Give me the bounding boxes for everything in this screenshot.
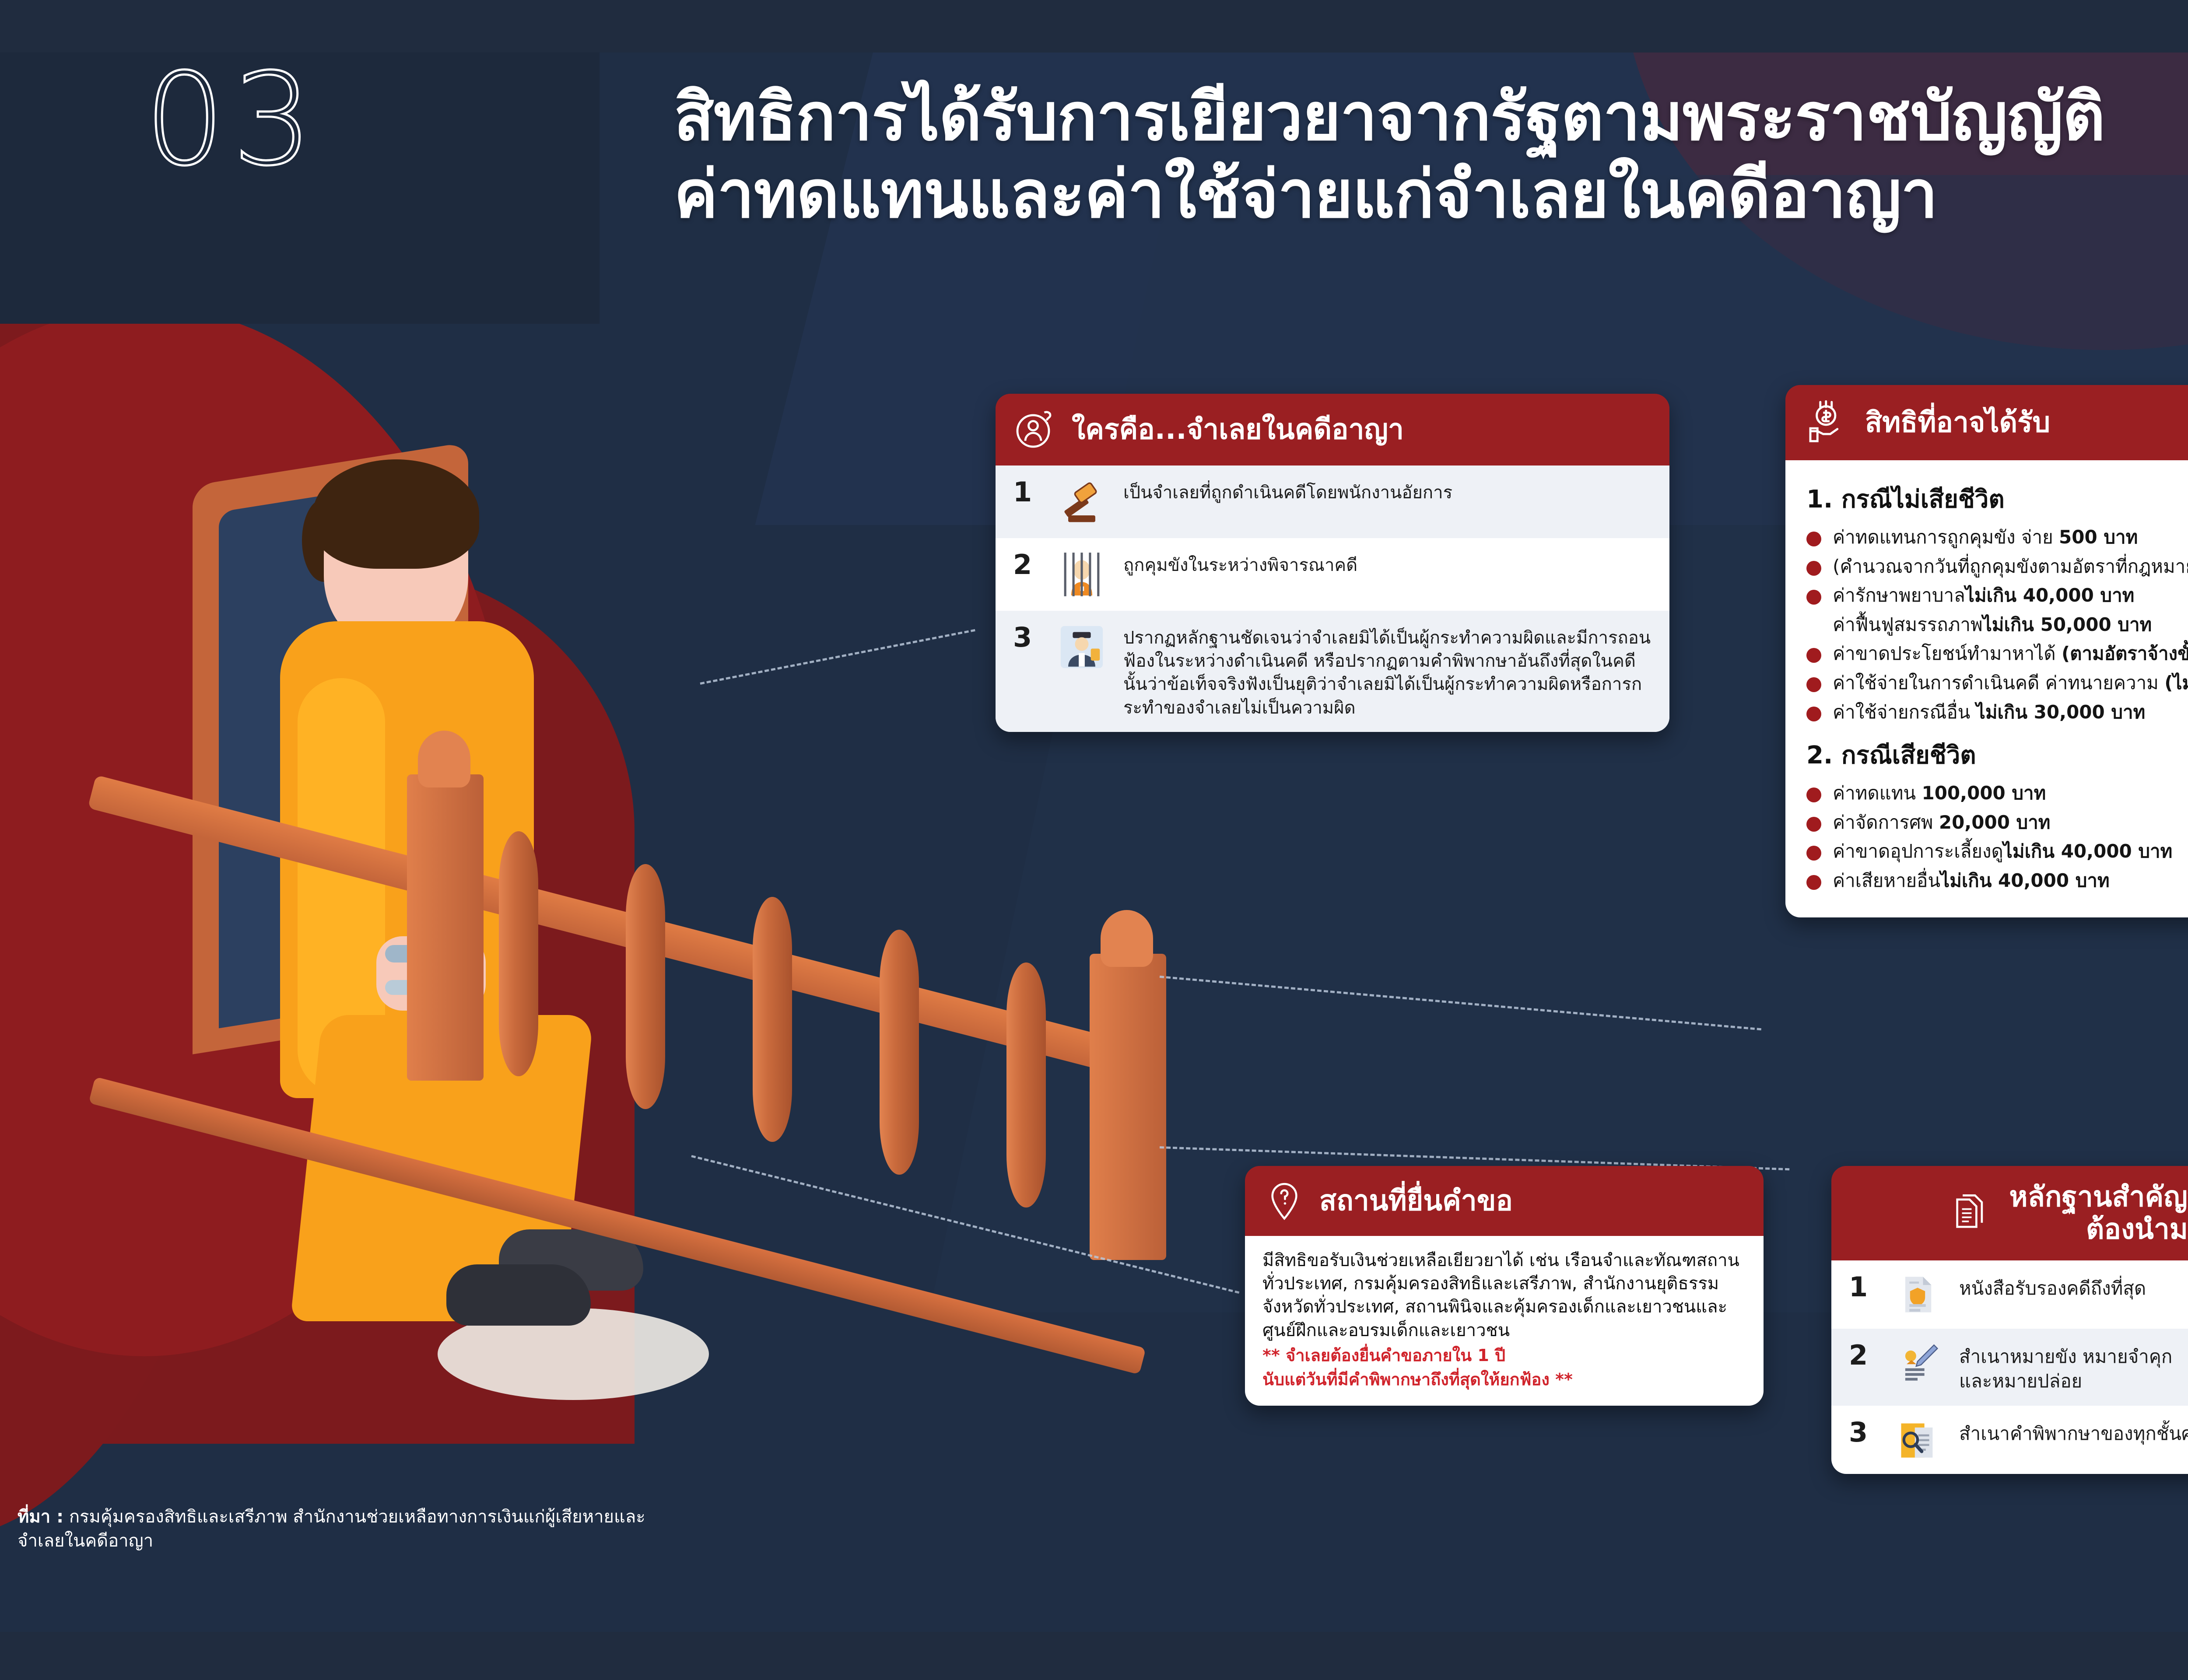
item-text: เป็นจำเลยที่ถูกดำเนินคดีโดยพนักงานอัยการ [1123, 478, 1452, 504]
bullet-item: ค่าใช้จ่ายในการดำเนินคดี ค่าทนายความ (ไม… [1806, 671, 2188, 695]
bullet-dot [1806, 532, 1821, 546]
bullet-bold: ไม่เกิน 40,000 บาท [1940, 870, 2110, 891]
railing-post-cap-left [418, 731, 470, 787]
card-evidence-body: 1 หนังสือรับรองคดีถึงที่สุด [1831, 1260, 2188, 1474]
bullet-bold: ไม่เกิน 50,000 บาท [1983, 614, 2152, 635]
bullet-item: ค่าเสียหายอื่นไม่เกิน 40,000 บาท [1806, 869, 2188, 893]
card-evidence-header: หลักฐานสำคัญที่ผู้เสียหาย ต้องนำมายื่น [1831, 1166, 2188, 1260]
bullet-item: ค่าขาดประโยชน์ทำมาหาได้ (ตามอัตราจ้างขั้… [1806, 642, 2188, 666]
bullet-dot [1806, 590, 1821, 605]
bullet-item: ค่าขาดอุปการะเลี้ยงดูไม่เกิน 40,000 บาท [1806, 840, 2188, 864]
list-item: 3 สำเนาคำพิพาก [1831, 1406, 2188, 1474]
bullet-dot [1806, 817, 1821, 832]
bullet-item: ค่าทดแทนการถูกคุมขัง จ่าย 500 บาท [1806, 525, 2188, 549]
bullet-plain: ค่าใช้จ่ายกรณีอื่น [1833, 701, 1976, 723]
list-item: 2 สำเนาหมายขัง หมายจำคุก และห [1831, 1329, 2188, 1406]
bullet-plain: (คำนวณจากวันที่ถูกคุมขังตามอัตราที่กฎหมา… [1833, 556, 2188, 577]
page-title: สิทธิการได้รับการเยียวยาจากรัฐตามพระราชบ… [674, 79, 2188, 234]
source-credit: ที่มา : กรมคุ้มครองสิทธิและเสรีภาพ สำนัก… [18, 1505, 674, 1553]
bullet-dot [1806, 561, 1821, 576]
source-label: ที่มา : [18, 1507, 63, 1527]
bullet-plain: ค่าทดแทน [1833, 782, 1922, 804]
bullet-bold: ไม่เกิน 40,000 บาท [1965, 584, 2135, 606]
railing-post-right [1090, 954, 1166, 1260]
card-where-header: สถานที่ยื่นคำขอ [1245, 1166, 1764, 1236]
bullet-plain: ค่าขาดอุปการะเลี้ยงดู [1833, 840, 2003, 862]
certificate-doc-icon [1889, 1273, 1946, 1316]
documents-icon [1950, 1191, 1994, 1235]
bullet-plain: ค่าฟื้นฟูสมรรถภาพ [1833, 614, 1983, 635]
list-item: 2 ถูกคุมขังใ [996, 538, 1669, 611]
bullet-item: (คำนวณจากวันที่ถูกคุมขังตามอัตราที่กฎหมา… [1806, 555, 2188, 579]
title-line-1: สิทธิการได้รับการเยียวยาจากรัฐตามพระราชบ… [674, 79, 2188, 156]
baluster-2 [626, 864, 665, 1109]
item-number: 2 [1013, 550, 1040, 579]
bullet-bold: (ตามอัตราจ้างขั้นต่ำในจังหวัดที่ทำงาน) [2062, 643, 2188, 664]
prison-bars-icon [1053, 550, 1110, 598]
bullet-dot [1806, 787, 1821, 802]
card-evidence-heading-line-2: ต้องนำมายื่น [2086, 1213, 2188, 1246]
card-possible-rights: สิทธิที่อาจได้รับ 1. กรณีไม่เสียชีวิต ค่… [1785, 385, 2188, 917]
person-hair [313, 459, 479, 569]
card-where-to-apply: สถานที่ยื่นคำขอ มีสิทธิขอรับเงินช่วยเหลื… [1245, 1166, 1764, 1406]
card-who-heading: ใครคือ...จำเลยในคดีอาญา [1072, 413, 1404, 446]
card-where-heading: สถานที่ยื่นคำขอ [1319, 1185, 1513, 1217]
title-line-2: ค่าทดแทนและค่าใช้จ่ายแก่จำเลยในคดีอาญา [674, 156, 2188, 234]
list-item: 3 ปรากฏหลักฐานชัดเจนว่าจำเลยมิได้เป็นผู้… [996, 611, 1669, 732]
bullet-plain: ค่าเสียหายอื่น [1833, 870, 1940, 891]
bullet-bold: 500 บาท [2059, 526, 2138, 548]
baluster-3 [753, 897, 792, 1142]
baluster-5 [1006, 962, 1046, 1207]
card-rights-heading: สิทธิที่อาจได้รับ [1865, 406, 2050, 439]
card-who-header: ใครคือ...จำเลยในคดีอาญา [996, 394, 1669, 465]
bullet-item: ค่ารักษาพยาบาลไม่เกิน 40,000 บาท [1806, 584, 2188, 608]
judge-icon [1053, 623, 1110, 671]
where-warning-line-2: นับแต่วันที่มีคำพิพากษาถึงที่สุดให้ยกฟ้อ… [1262, 1369, 1746, 1390]
where-warning-line-1: ** จำเลยต้องยื่นคำขอภายใน 1 ปี [1262, 1345, 1746, 1366]
bullet-item-continued: ค่าฟื้นฟูสมรรถภาพไม่เกิน 50,000 บาท [1806, 613, 2188, 637]
bullet-bold: ไม่เกิน 40,000 บาท [2003, 840, 2173, 862]
card-who-is-defendant: ใครคือ...จำเลยในคดีอาญา 1 เป็นจำเลยที่ถู… [996, 394, 1669, 732]
bullet-dot [1806, 677, 1821, 692]
item-text: ปรากฏหลักฐานชัดเจนว่าจำเลยมิได้เป็นผู้กร… [1123, 623, 1652, 720]
list-item: 1 หนังสือรับรองคดีถึงที่สุด [1831, 1260, 2188, 1329]
item-text: หนังสือรับรองคดีถึงที่สุด [1959, 1273, 2146, 1301]
where-paragraph: มีสิทธิขอรับเงินช่วยเหลือเยียวยาได้ เช่น… [1262, 1249, 1746, 1342]
map-pin-question-icon [1264, 1181, 1304, 1221]
section-number-badge: 03 [144, 57, 320, 184]
bullet-bold: ไม่เกิน 30,000 บาท [1976, 701, 2146, 723]
baluster-4 [880, 930, 919, 1175]
bg-bottom-bar [0, 1632, 2188, 1680]
infographic-stage: 03 สิทธิการได้รับการเยียวยาจากรัฐตามพระร… [0, 0, 2188, 1680]
bullet-bold: 100,000 บาท [1922, 782, 2046, 804]
rights-section-2-title: 2. กรณีเสียชีวิต [1806, 735, 2188, 774]
item-text: ถูกคุมขังในระหว่างพิจารณาคดี [1123, 550, 1357, 577]
item-number: 1 [1849, 1273, 1876, 1301]
item-number: 1 [1013, 478, 1040, 506]
railing-post-left [407, 774, 484, 1081]
bullet-plain: ค่าจัดการศพ [1833, 812, 1939, 833]
card-required-evidence: หลักฐานสำคัญที่ผู้เสียหาย ต้องนำมายื่น 1 [1831, 1166, 2188, 1474]
bullet-dot [1806, 846, 1821, 861]
bullet-bold: (ไม่เกินอัตราที่กำหนด) [2164, 672, 2188, 693]
bullet-plain: ค่าขาดประโยชน์ทำมาหาได้ [1833, 643, 2062, 664]
gavel-icon [1053, 478, 1110, 526]
bullet-plain: ค่าทดแทนการถูกคุมขัง จ่าย [1833, 526, 2059, 548]
rights-section-1-list: ค่าทดแทนการถูกคุมขัง จ่าย 500 บาท (คำนวณ… [1806, 525, 2188, 724]
railing-post-cap-right [1101, 910, 1153, 967]
bullet-dot [1806, 875, 1821, 890]
bullet-bold: 20,000 บาท [1939, 812, 2051, 833]
card-rights-header: สิทธิที่อาจได้รับ [1785, 385, 2188, 460]
item-number: 3 [1849, 1418, 1876, 1446]
bg-top-bar [0, 0, 2188, 52]
hand-coin-icon [1805, 400, 1850, 445]
list-item: 1 เป็นจำเลยที่ถูกดำเนินคดีโดยพนักงานอัยก… [996, 465, 1669, 538]
person-question-icon [1015, 409, 1057, 451]
card-rights-body: 1. กรณีไม่เสียชีวิต ค่าทดแทนการถูกคุมขัง… [1785, 460, 2188, 917]
warrant-pen-icon [1889, 1341, 1946, 1385]
item-number: 3 [1013, 623, 1040, 651]
rights-section-2-list: ค่าทดแทน 100,000 บาท ค่าจัดการศพ 20,000 … [1806, 781, 2188, 892]
rights-section-1-title: 1. กรณีไม่เสียชีวิต [1806, 479, 2188, 518]
search-doc-icon [1889, 1418, 1946, 1462]
bullet-item: ค่าจัดการศพ 20,000 บาท [1806, 811, 2188, 835]
bullet-item: ค่าทดแทน 100,000 บาท [1806, 781, 2188, 805]
person-shoe-front [446, 1264, 591, 1326]
bullet-dot [1806, 648, 1821, 663]
item-text: สำเนาคำพิพากษาของทุกชั้นศาล [1959, 1418, 2188, 1446]
item-text: สำเนาหมายขัง หมายจำคุก และหมายปล่อย [1959, 1341, 2172, 1393]
bullet-item: ค่าใช้จ่ายกรณีอื่น ไม่เกิน 30,000 บาท [1806, 700, 2188, 724]
bullet-dot [1806, 707, 1821, 721]
baluster-1 [499, 831, 538, 1076]
bullet-plain: ค่ารักษาพยาบาล [1833, 584, 1965, 606]
card-who-body: 1 เป็นจำเลยที่ถูกดำเนินคดีโดยพนักงานอัยก… [996, 465, 1669, 732]
item-number: 2 [1849, 1341, 1876, 1369]
card-evidence-heading-line-1: หลักฐานสำคัญที่ผู้เสียหาย [2009, 1181, 2188, 1213]
bullet-plain: ค่าใช้จ่ายในการดำเนินคดี ค่าทนายความ [1833, 672, 2164, 693]
source-text: กรมคุ้มครองสิทธิและเสรีภาพ สำนักงานช่วยเ… [18, 1507, 645, 1551]
card-where-body: มีสิทธิขอรับเงินช่วยเหลือเยียวยาได้ เช่น… [1245, 1236, 1764, 1406]
